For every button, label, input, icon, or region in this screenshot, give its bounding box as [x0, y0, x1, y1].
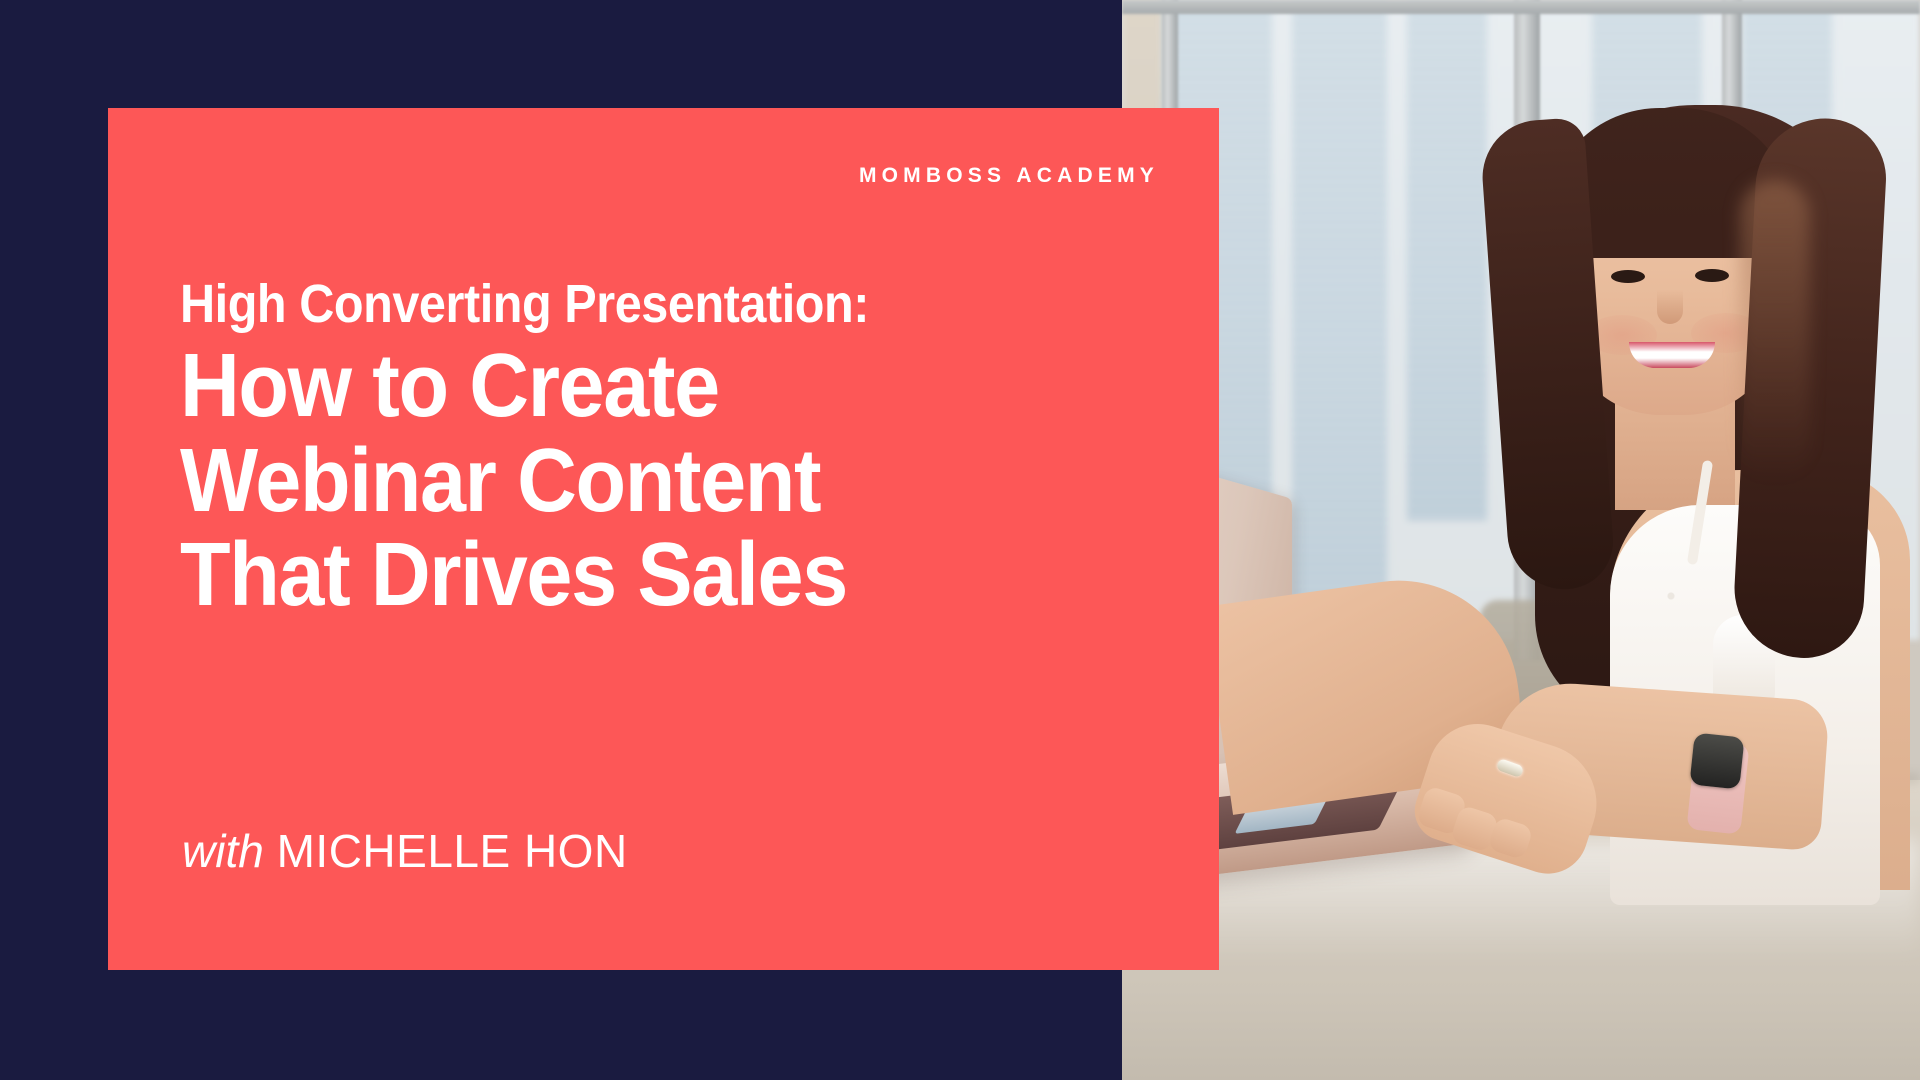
nose	[1657, 290, 1683, 324]
page-title: High Converting Presentation: How to Cre…	[180, 276, 1180, 623]
eye-right	[1695, 269, 1729, 282]
smartwatch-face	[1689, 733, 1744, 790]
webinar-title-slide: MILLION DOLLAR WEBINAR Blueprint MOMBOSS…	[0, 0, 1920, 1080]
brand-eyebrow: MOMBOSS ACADEMY	[859, 164, 1159, 188]
skyline-tower	[1407, 0, 1487, 520]
mouth	[1629, 342, 1715, 368]
headline-line-2: Webinar Content	[180, 434, 1100, 529]
headline-line-3: That Drives Sales	[180, 528, 1100, 623]
presenter-name: MICHELLE HON	[277, 825, 628, 877]
presenter-byline: with MICHELLE HON	[182, 824, 628, 878]
title-card: MOMBOSS ACADEMY High Converting Presenta…	[108, 108, 1219, 970]
presenter-photo: MILLION DOLLAR WEBINAR Blueprint	[1122, 0, 1920, 1080]
eye-left	[1611, 270, 1645, 283]
headline-kicker: High Converting Presentation:	[180, 276, 1080, 333]
window-header-rail	[1122, 0, 1920, 14]
skyline-tower	[1292, 0, 1387, 620]
headline-line-1: How to Create	[180, 339, 1100, 434]
byline-prefix: with	[182, 825, 264, 877]
hair-highlight	[1740, 180, 1810, 480]
